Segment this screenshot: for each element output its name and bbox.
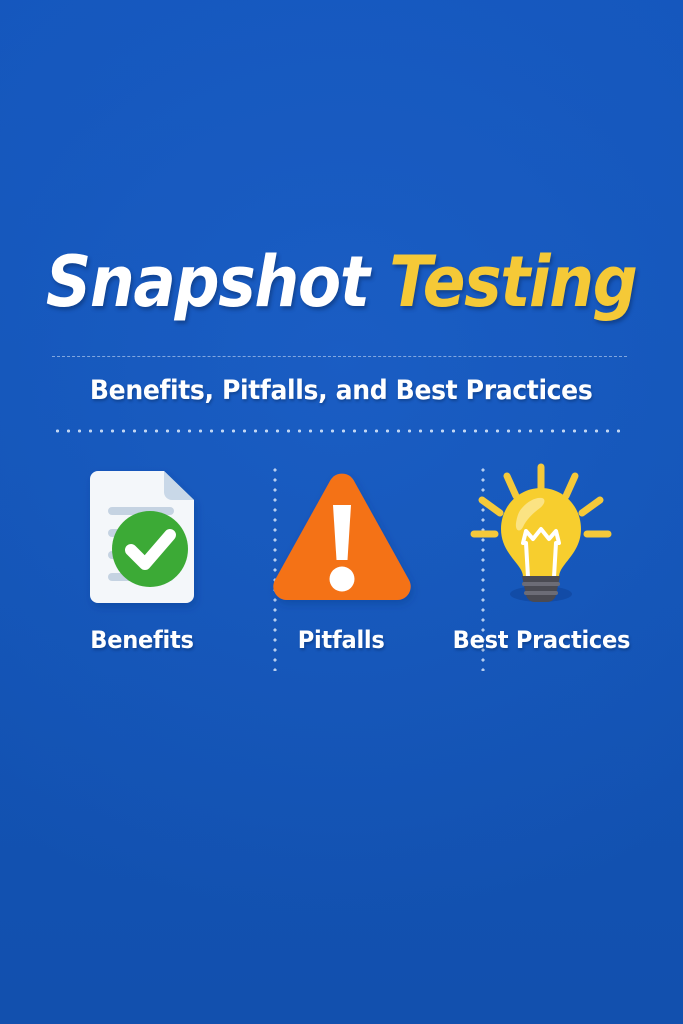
- feature-columns: Benefits Pitfalls: [42, 462, 641, 674]
- lightbulb-icon: [466, 462, 616, 612]
- feature-column-best-practices[interactable]: Best Practices: [441, 462, 641, 674]
- title-accent-word: Testing: [369, 241, 637, 323]
- title-main-word: Snapshot: [46, 241, 369, 323]
- feature-label-pitfalls: Pitfalls: [298, 626, 385, 654]
- warning-triangle-icon: [267, 462, 417, 612]
- poster-title: Snapshot Testing: [0, 247, 683, 317]
- feature-label-best-practices: Best Practices: [452, 626, 629, 654]
- title-text: Snapshot Testing: [46, 247, 637, 317]
- feature-column-benefits[interactable]: Benefits: [42, 462, 242, 674]
- feature-label-benefits: Benefits: [90, 626, 193, 654]
- document-check-icon: [80, 462, 204, 612]
- divider-bottom: [52, 429, 627, 433]
- poster-canvas: Snapshot Testing Benefits, Pitfalls, and…: [0, 0, 683, 1024]
- subtitle-text: Benefits, Pitfalls, and Best Practices: [90, 375, 593, 406]
- poster-subtitle: Benefits, Pitfalls, and Best Practices: [0, 375, 683, 406]
- divider-top: [52, 356, 627, 357]
- feature-column-pitfalls[interactable]: Pitfalls: [242, 462, 442, 674]
